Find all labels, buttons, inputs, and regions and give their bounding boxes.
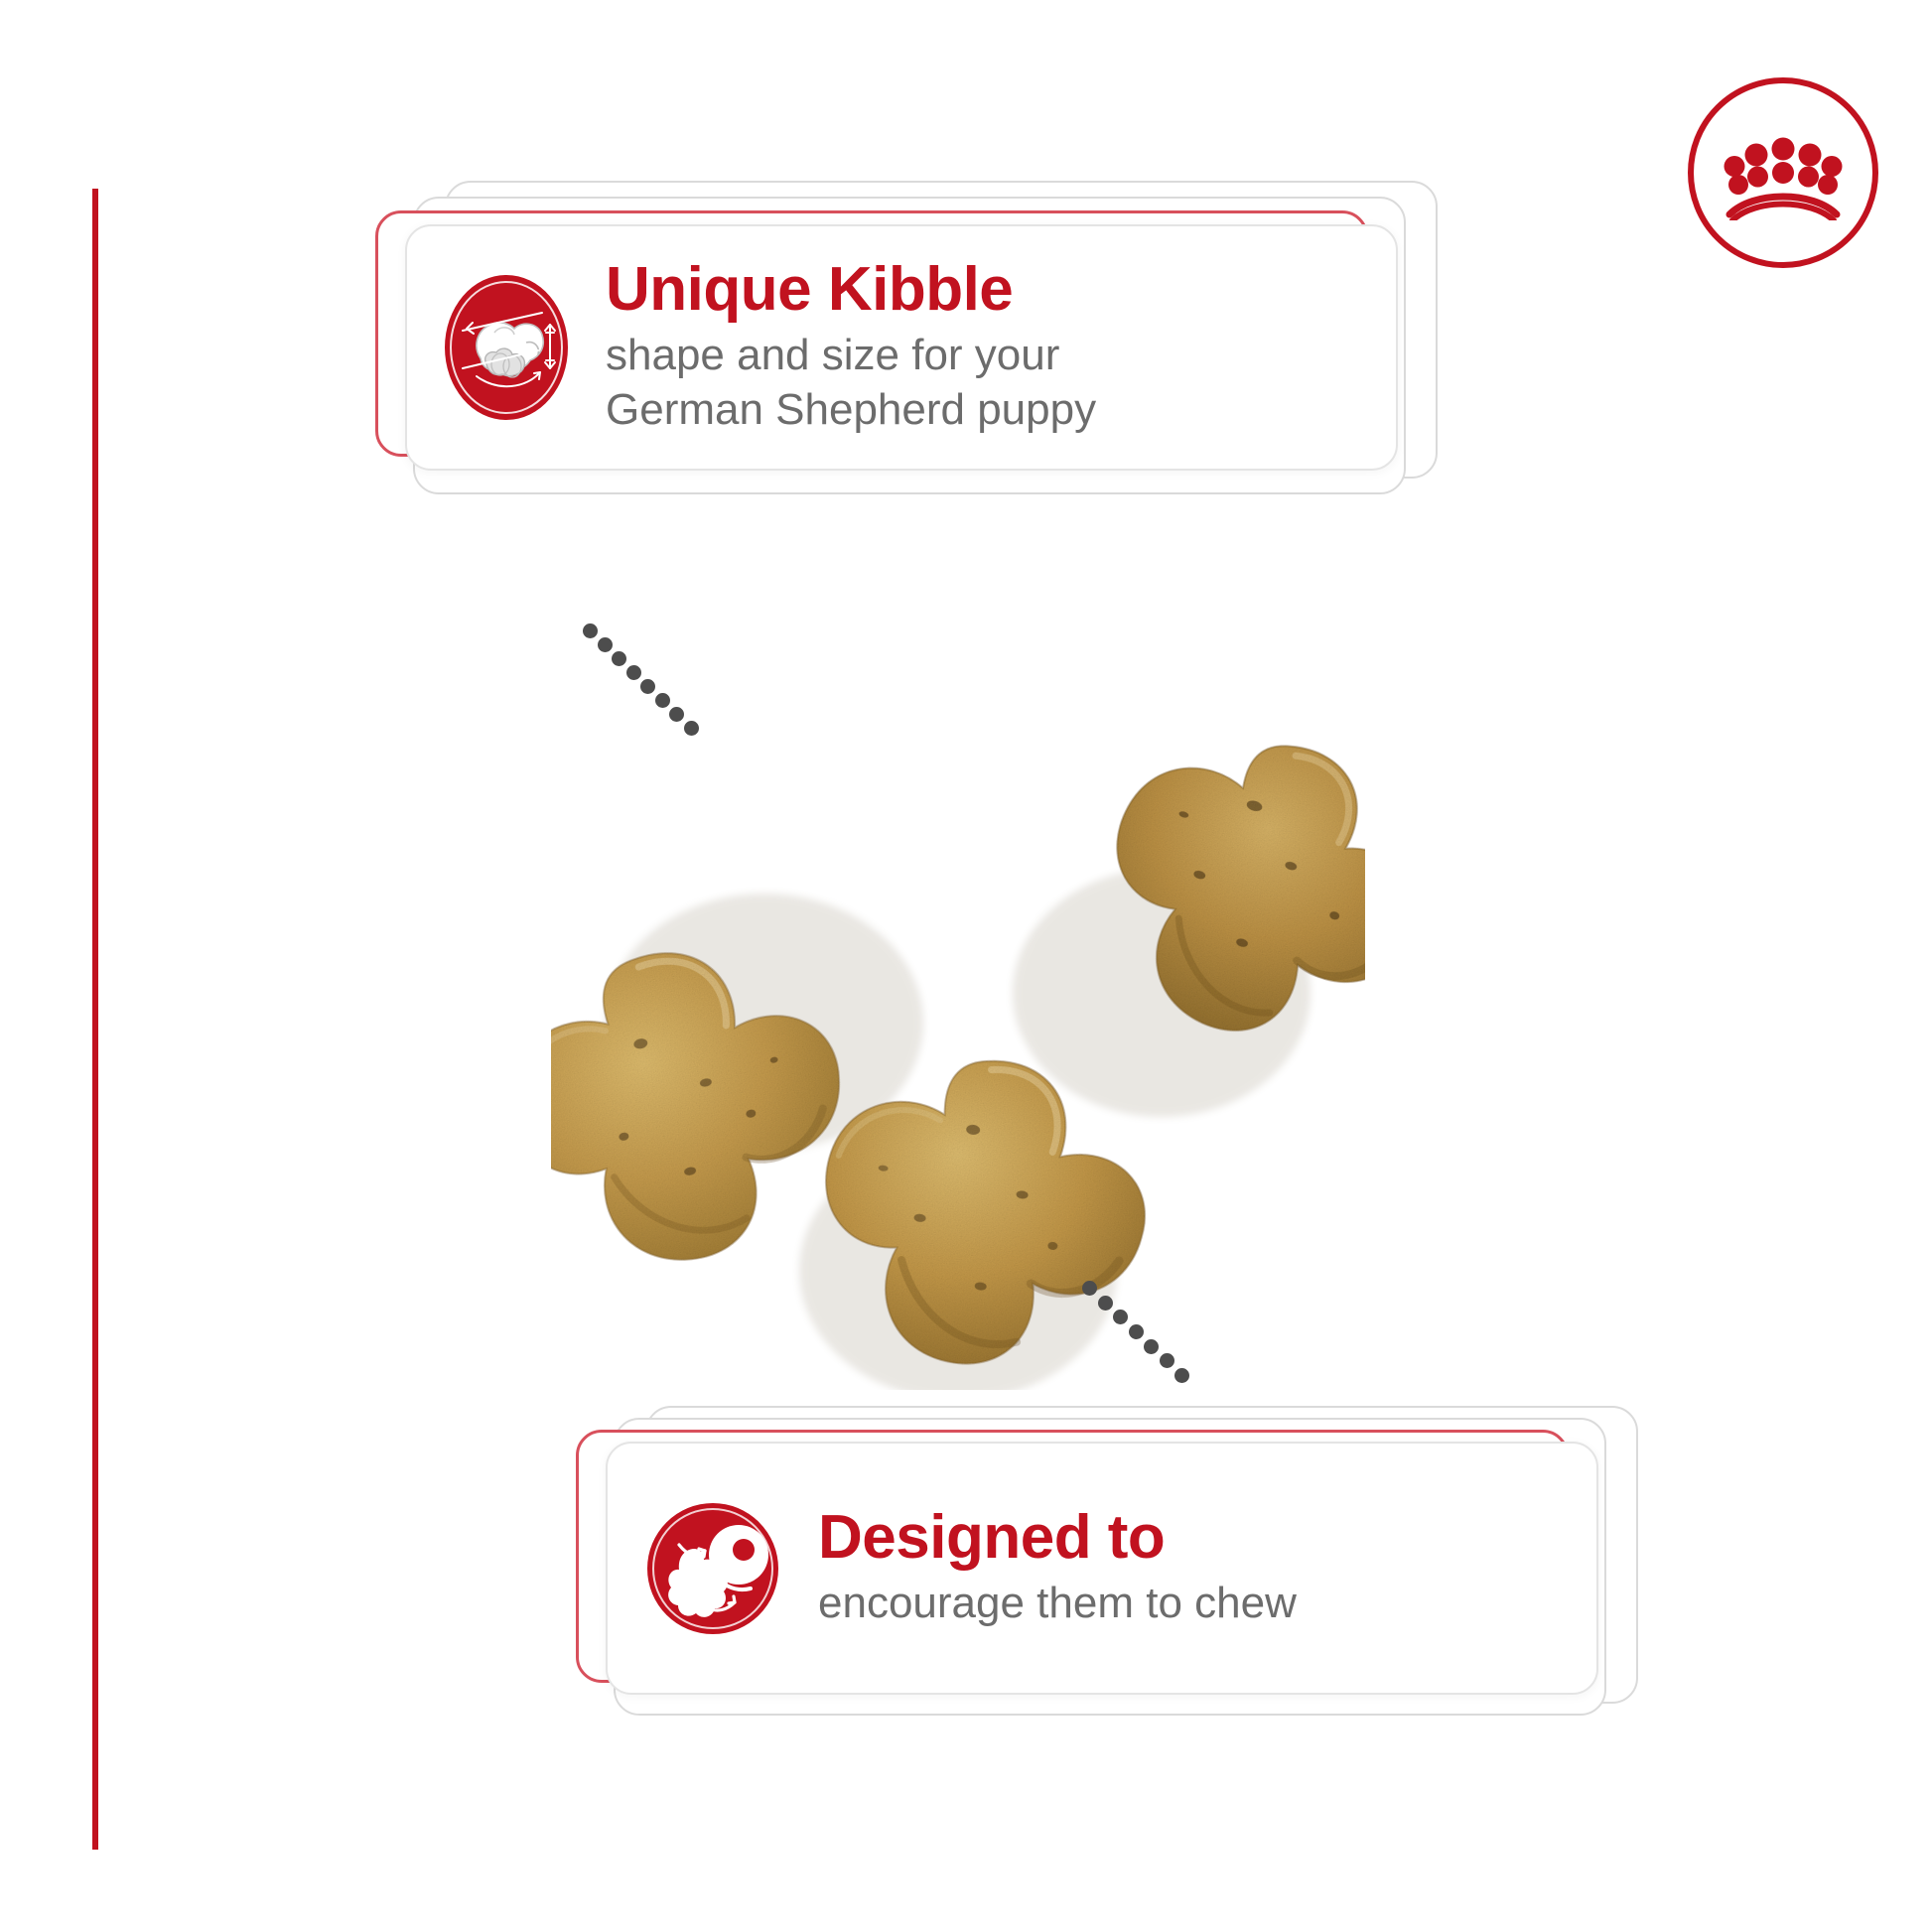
connector-dot	[1098, 1296, 1113, 1311]
royal-canin-crown-icon	[1722, 133, 1845, 220]
card-subtitle-line-1: encourage them to chew	[818, 1576, 1577, 1630]
card-designed-to-chew: Designed to encourage them to chew	[576, 1430, 1640, 1718]
connector-dot	[598, 637, 613, 652]
kibble-shape-measure-icon	[443, 273, 570, 422]
card-unique-kibble-body: Unique Kibble shape and size for your Ge…	[405, 224, 1398, 471]
connector-dot	[1144, 1339, 1159, 1354]
card-subtitle: encourage them to chew	[818, 1576, 1577, 1630]
connector-dot	[1174, 1368, 1189, 1383]
connector-dot	[1082, 1281, 1097, 1296]
card-subtitle: shape and size for your German Shepherd …	[606, 328, 1376, 437]
brand-logo	[1688, 77, 1886, 276]
card-unique-kibble: Unique Kibble shape and size for your Ge…	[375, 210, 1440, 498]
card-unique-kibble-text: Unique Kibble shape and size for your Ge…	[606, 258, 1396, 436]
card-subtitle-line-1: shape and size for your	[606, 328, 1376, 382]
connector-dot	[1129, 1324, 1144, 1339]
card-designed-to-chew-body: Designed to encourage them to chew	[606, 1442, 1598, 1695]
card-subtitle-line-2: German Shepherd puppy	[606, 382, 1376, 437]
card-title: Unique Kibble	[606, 258, 1376, 321]
connector-dot	[1160, 1353, 1174, 1368]
page-root: Unique Kibble shape and size for your Ge…	[0, 0, 1932, 1932]
brand-stem-line	[92, 189, 98, 1850]
kibble-photo	[551, 695, 1365, 1390]
connector-dot	[583, 623, 598, 638]
card-title: Designed to	[818, 1506, 1577, 1569]
kibble-chew-icon	[643, 1499, 782, 1638]
card-designed-to-chew-text: Designed to encourage them to chew	[818, 1506, 1596, 1629]
connector-dot	[612, 651, 626, 666]
connector-dot	[626, 665, 641, 680]
connector-dot	[640, 679, 655, 694]
